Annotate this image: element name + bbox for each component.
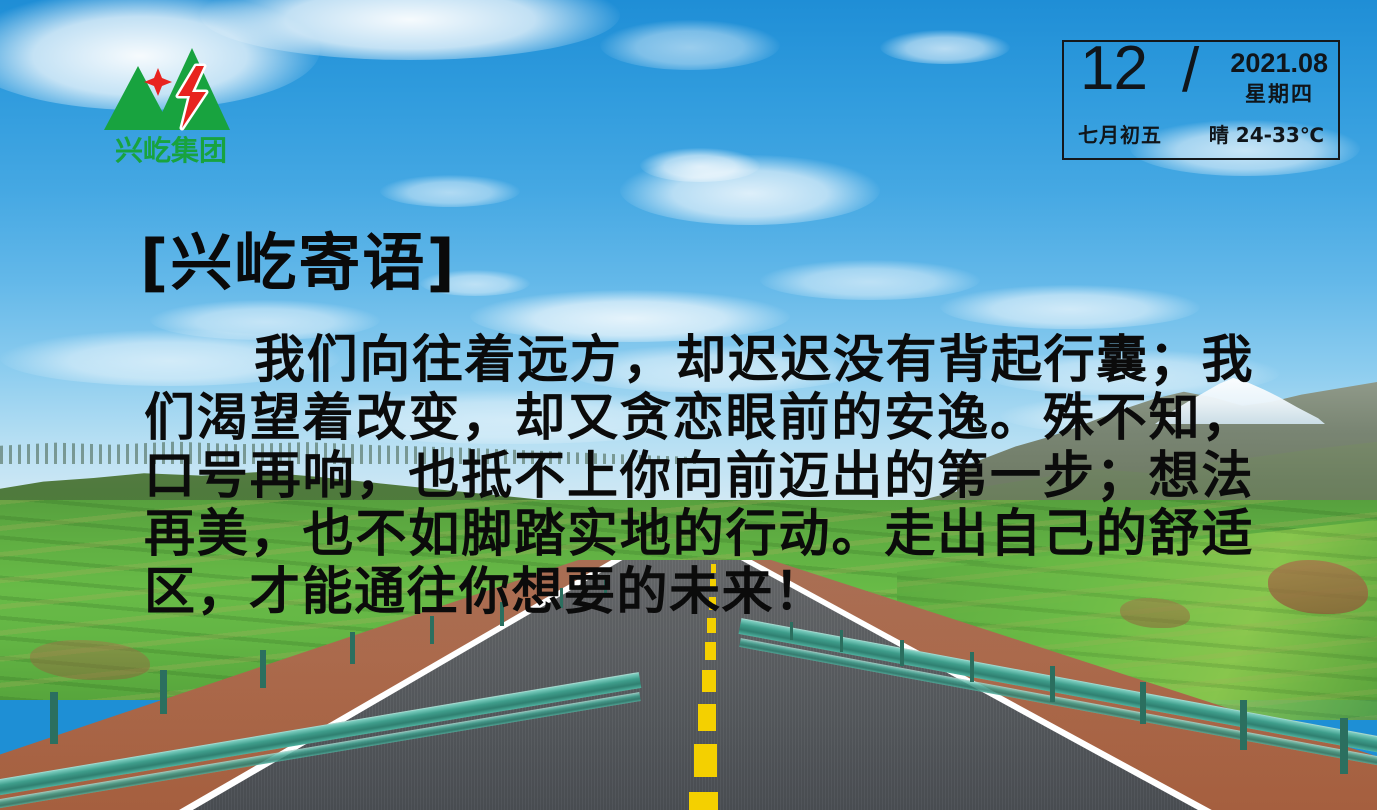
guardrail-post <box>1240 700 1247 750</box>
date-day: 12 <box>1080 38 1147 100</box>
guardrail-post <box>1340 718 1348 774</box>
guardrail-post <box>840 630 843 652</box>
date-year-month: 2021.08 <box>1230 50 1328 77</box>
lane-dash <box>705 642 716 660</box>
guardrail-post <box>1140 682 1146 724</box>
date-separator: / <box>1182 40 1199 102</box>
lane-dash <box>702 670 716 692</box>
date-card-bottom-row: 七月初五 晴 24-33℃ <box>1064 119 1338 148</box>
logo-wordmark: 兴屹集团 <box>115 134 227 166</box>
lane-dash <box>689 792 718 810</box>
date-weekday: 星期四 <box>1245 84 1314 105</box>
lunar-date: 七月初五 <box>1078 119 1162 148</box>
guardrail-post <box>50 692 58 744</box>
date-card: 12 / 2021.08 星期四 七月初五 晴 24-33℃ <box>1062 40 1340 160</box>
date-card-top-row: 12 / 2021.08 星期四 <box>1064 42 1338 116</box>
page-title: [兴屹寄语] <box>140 212 457 302</box>
guardrail-post <box>350 632 355 664</box>
guardrail-post <box>900 640 904 666</box>
company-logo[interactable]: 兴屹集团 <box>96 38 246 166</box>
guardrail-post <box>790 622 793 640</box>
guardrail-post <box>1050 666 1055 702</box>
weather-info: 晴 24-33℃ <box>1209 119 1324 148</box>
guardrail-post <box>260 650 266 688</box>
poster-canvas: 兴屹集团 12 / 2021.08 星期四 七月初五 晴 24-33℃ [兴屹寄… <box>0 0 1377 810</box>
lane-dash <box>698 704 716 731</box>
guardrail-post <box>160 670 167 714</box>
lane-dash <box>694 744 717 777</box>
message-body: 我们向往着远方，却迟迟没有背起行囊；我们渴望着改变，却又贪恋眼前的安逸。殊不知，… <box>144 332 1254 622</box>
guardrail-post <box>970 652 974 682</box>
